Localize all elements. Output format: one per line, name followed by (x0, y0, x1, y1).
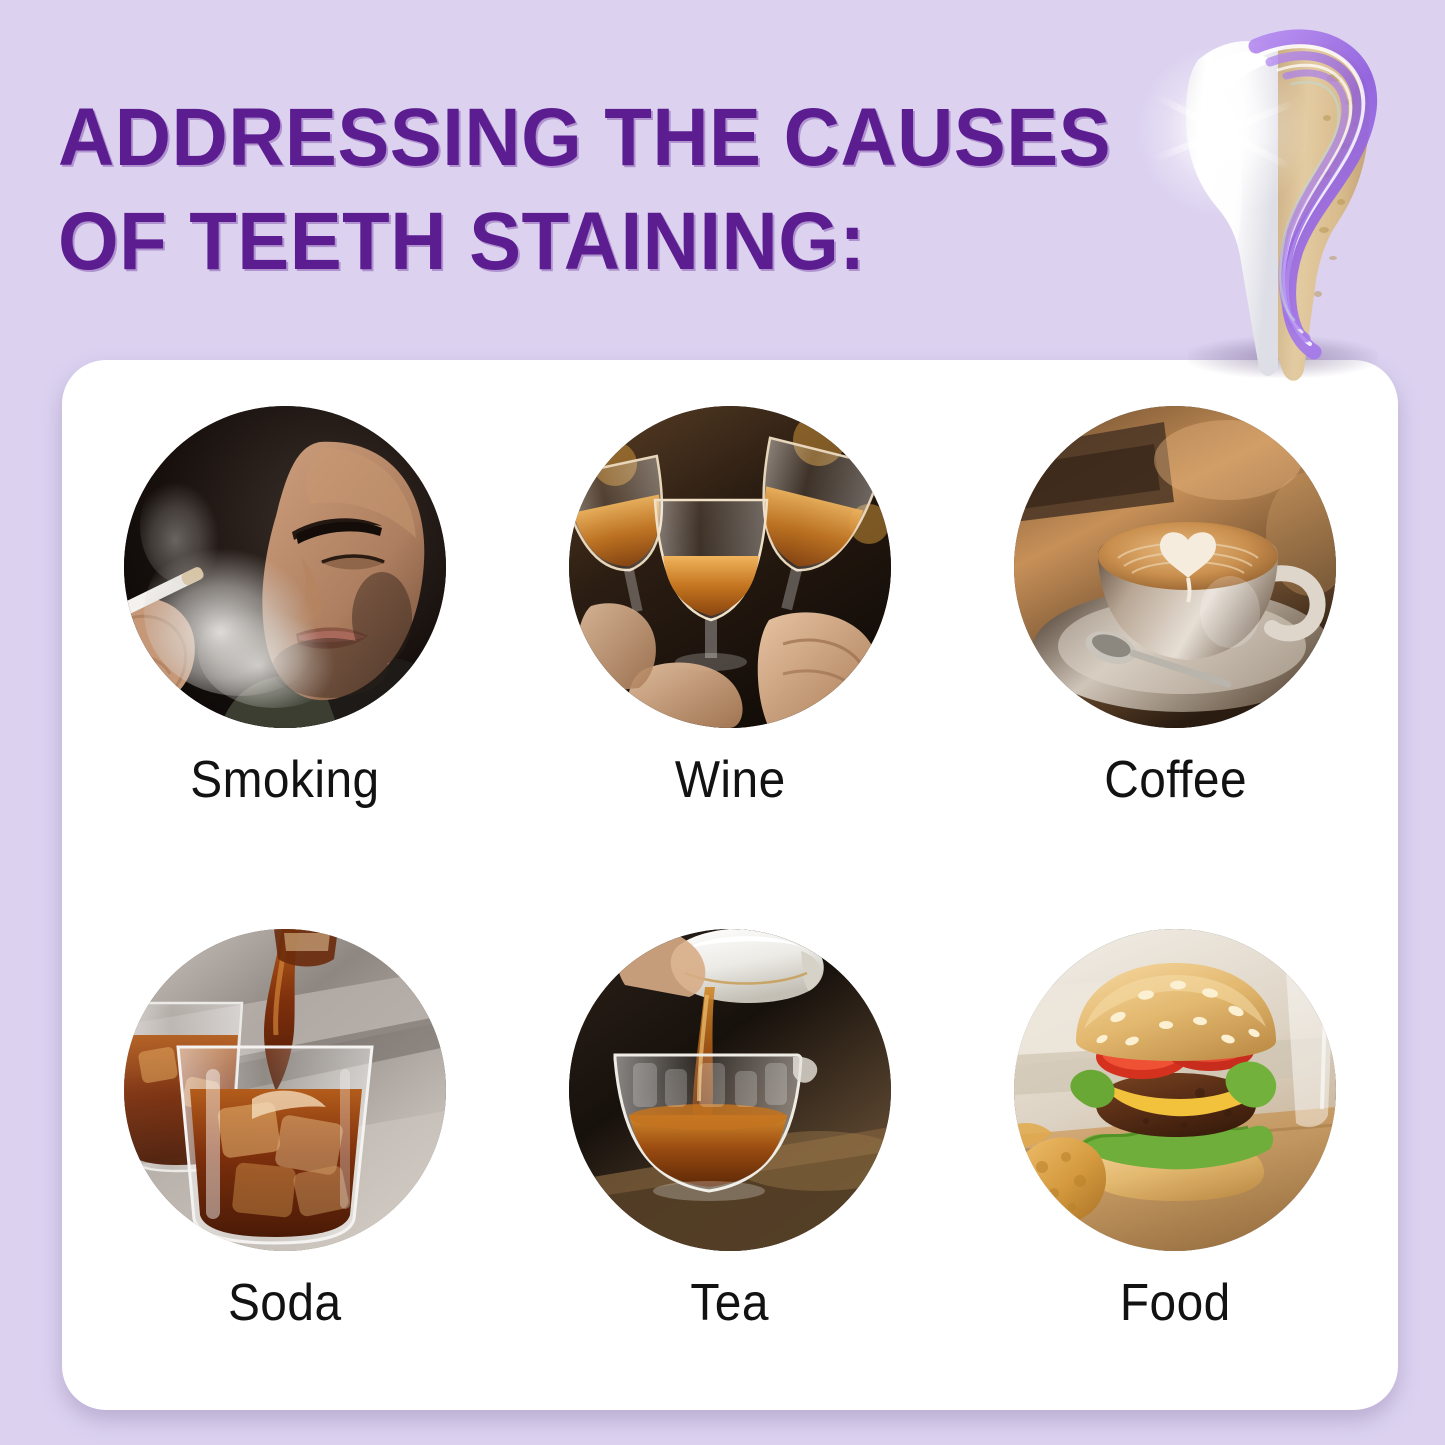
cause-item-wine[interactable]: Wine (507, 360, 952, 885)
coffee-illustration (1014, 406, 1336, 728)
food-illustration (1014, 929, 1336, 1251)
split-tooth-graphic (1128, 6, 1428, 396)
page-title: ADDRESSING THE CAUSES OF TEETH STAINING: (58, 86, 1111, 294)
cause-label: Coffee (1104, 750, 1247, 810)
infographic-root: ADDRESSING THE CAUSES OF TEETH STAINING: (0, 0, 1445, 1445)
wine-photo (569, 406, 891, 728)
cause-item-smoking[interactable]: Smoking (62, 360, 507, 885)
food-photo (1014, 929, 1336, 1251)
cause-label: Tea (691, 1273, 770, 1333)
cause-label: Smoking (190, 750, 379, 810)
soda-illustration (124, 929, 446, 1251)
cause-label: Wine (675, 750, 786, 810)
cause-label: Food (1120, 1273, 1231, 1333)
wine-illustration (569, 406, 891, 728)
title-line-1: ADDRESSING THE CAUSES (58, 86, 1111, 190)
smoking-photo (124, 406, 446, 728)
tea-photo (569, 929, 891, 1251)
cause-item-tea[interactable]: Tea (507, 885, 952, 1410)
tooth-illustration (1128, 6, 1428, 396)
cause-item-food[interactable]: Food (953, 885, 1398, 1410)
causes-grid: Smoking (62, 360, 1398, 1410)
title-line-2: OF TEETH STAINING: (58, 190, 1111, 294)
tea-illustration (569, 929, 891, 1251)
soda-photo (124, 929, 446, 1251)
cause-label: Soda (228, 1273, 342, 1333)
cause-item-soda[interactable]: Soda (62, 885, 507, 1410)
coffee-photo (1014, 406, 1336, 728)
smoking-illustration (124, 406, 446, 728)
cause-item-coffee[interactable]: Coffee (953, 360, 1398, 885)
